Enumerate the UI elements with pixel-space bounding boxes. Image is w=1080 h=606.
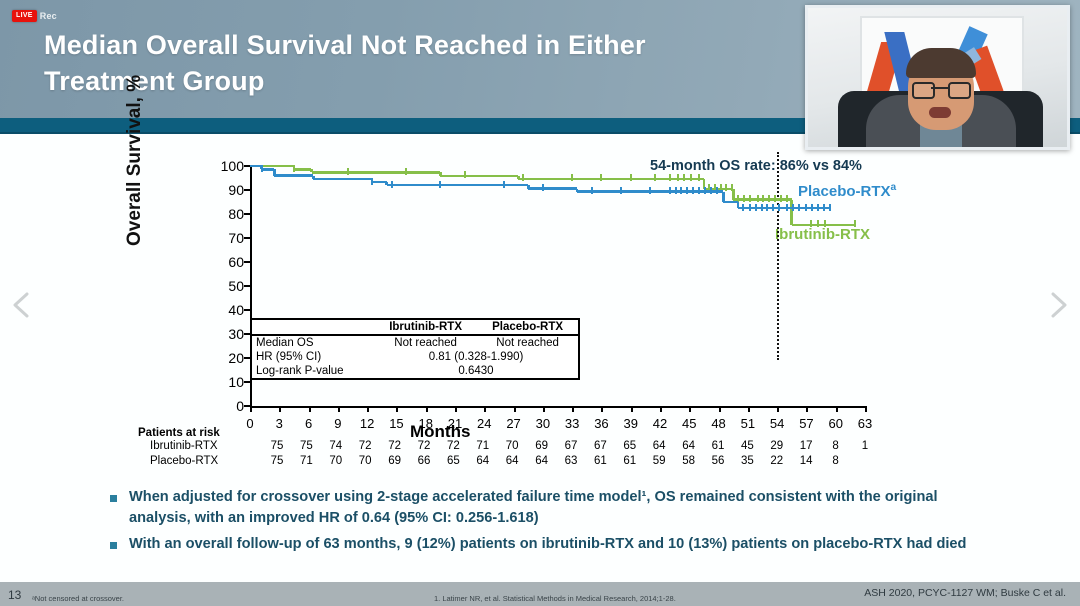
censor-mark <box>261 165 263 172</box>
y-tick-label: 60 <box>228 254 244 270</box>
bullet-text: When adjusted for crossover using 2-stag… <box>129 487 990 528</box>
censor-mark <box>817 204 819 211</box>
risk-value: 75 <box>300 440 313 452</box>
risk-value: 64 <box>653 440 666 452</box>
x-tick-mark <box>426 406 428 412</box>
x-tick-mark <box>631 406 633 412</box>
risk-value: 61 <box>712 440 725 452</box>
risk-table-row: Placebo-RTX75717070696665646464636161595… <box>138 455 890 470</box>
censor-mark <box>792 204 794 211</box>
y-tick-mark <box>244 285 250 287</box>
censor-mark <box>347 168 349 175</box>
stats-row: HR (95% CI)0.81 (0.328-1.990) <box>252 350 578 364</box>
y-tick-label: 80 <box>228 206 244 222</box>
y-tick-label: 70 <box>228 230 244 246</box>
x-tick-mark <box>455 406 457 412</box>
y-tick-mark <box>244 309 250 311</box>
x-tick-mark <box>865 406 867 412</box>
risk-value: 72 <box>388 440 401 452</box>
slide-container: Median Overall Survival Not Reached in E… <box>0 0 1080 606</box>
censor-mark <box>439 181 441 188</box>
y-tick-mark <box>244 189 250 191</box>
page-title: Median Overall Survival Not Reached in E… <box>44 28 744 99</box>
y-tick-label: 90 <box>228 182 244 198</box>
censor-mark <box>762 195 764 202</box>
censor-mark <box>704 187 706 194</box>
censor-mark <box>757 195 759 202</box>
censor-mark <box>649 187 651 194</box>
risk-value: 69 <box>388 455 401 467</box>
y-axis-label: Overall Survival, % <box>124 75 146 246</box>
x-tick-mark <box>309 406 311 412</box>
y-tick-label: 20 <box>228 350 244 366</box>
risk-value: 74 <box>329 440 342 452</box>
live-badge: LIVE <box>12 10 37 22</box>
x-tick-mark <box>806 406 808 412</box>
patients-at-risk-table: Patients at risk Ibrutinib-RTX7575747272… <box>138 427 890 470</box>
placebo-footnote-marker: a <box>891 182 897 193</box>
censor-mark <box>522 174 524 181</box>
risk-value: 69 <box>535 440 548 452</box>
stats-row-value: 0.81 (0.328-1.990) <box>374 350 578 364</box>
risk-value: 29 <box>770 440 783 452</box>
risk-value: 72 <box>359 440 372 452</box>
censor-mark <box>675 187 677 194</box>
risk-value: 71 <box>476 440 489 452</box>
bullet-item: With an overall follow-up of 63 months, … <box>110 534 990 555</box>
y-tick-label: 40 <box>228 302 244 318</box>
presenter-webcam[interactable] <box>805 5 1070 150</box>
stats-row-value: 0.6430 <box>374 364 578 378</box>
risk-value: 67 <box>594 440 607 452</box>
censor-mark <box>749 195 751 202</box>
risk-value: 65 <box>447 455 460 467</box>
risk-value: 70 <box>359 455 372 467</box>
risk-value: 72 <box>447 440 460 452</box>
prev-slide-button[interactable] <box>4 285 38 325</box>
censor-mark <box>742 204 744 211</box>
x-tick-mark <box>572 406 574 412</box>
curve-segment-placebo-rtx <box>528 187 577 190</box>
glasses-bridge <box>931 87 948 89</box>
risk-row-label: Placebo-RTX <box>150 455 218 467</box>
censor-mark <box>829 204 831 211</box>
censor-mark <box>805 204 807 211</box>
censor-mark <box>293 165 295 172</box>
y-tick-label: 10 <box>228 374 244 390</box>
bullet-marker-icon <box>110 542 117 549</box>
risk-value: 67 <box>565 440 578 452</box>
x-tick-mark <box>836 406 838 412</box>
risk-value: 56 <box>712 455 725 467</box>
censor-mark <box>654 174 656 181</box>
x-tick-mark <box>777 406 779 412</box>
chevron-right-icon <box>1042 285 1076 325</box>
censor-mark <box>571 174 573 181</box>
risk-value: 75 <box>271 440 284 452</box>
censor-mark <box>669 187 671 194</box>
stats-col-placebo: Placebo-RTX <box>477 320 578 335</box>
censor-mark <box>731 184 733 191</box>
risk-value: 1 <box>862 440 868 452</box>
censor-mark <box>780 195 782 202</box>
risk-value: 71 <box>300 455 313 467</box>
censor-mark <box>620 187 622 194</box>
risk-value: 61 <box>594 455 607 467</box>
censor-mark <box>692 187 694 194</box>
censor-mark <box>772 204 774 211</box>
risk-value: 22 <box>770 455 783 467</box>
risk-value: 17 <box>800 440 813 452</box>
risk-value: 75 <box>271 455 284 467</box>
x-axis <box>250 406 867 408</box>
y-tick-label: 30 <box>228 326 244 342</box>
x-tick-mark <box>689 406 691 412</box>
stats-col-ibrutinib: Ibrutinib-RTX <box>374 320 477 335</box>
stats-row-value: Not reached <box>477 335 578 350</box>
risk-value: 64 <box>535 455 548 467</box>
stats-row-label: Median OS <box>252 335 374 350</box>
censor-mark <box>600 174 602 181</box>
glasses-icon <box>912 82 935 99</box>
citation-text: 1. Latimer NR, et al. Statistical Method… <box>434 594 676 603</box>
censor-mark <box>391 181 393 188</box>
censor-mark <box>749 204 751 211</box>
censor-mark <box>824 220 826 227</box>
webcam-background <box>808 8 1067 147</box>
x-tick-mark <box>367 406 369 412</box>
curve-segment-ibrutinib-rtx <box>440 175 518 178</box>
x-tick-mark <box>719 406 721 412</box>
risk-value: 58 <box>682 455 695 467</box>
survival-chart: Overall Survival, % 54-month OS rate: 86… <box>130 150 890 480</box>
stats-row-value: Not reached <box>374 335 477 350</box>
y-tick-label: 100 <box>221 158 244 174</box>
censor-mark <box>817 220 819 227</box>
risk-value: 64 <box>682 440 695 452</box>
y-tick-mark <box>244 213 250 215</box>
censor-mark <box>690 174 692 181</box>
bullet-list: When adjusted for crossover using 2-stag… <box>110 487 990 561</box>
presenter-hair <box>906 48 976 78</box>
censor-mark <box>630 174 632 181</box>
censor-mark <box>716 187 718 194</box>
risk-value: 64 <box>476 455 489 467</box>
censor-mark <box>680 187 682 194</box>
censor-mark <box>677 174 679 181</box>
y-tick-mark <box>244 381 250 383</box>
source-text: ASH 2020, PCYC-1127 WM; Buske C et al. <box>864 587 1066 599</box>
censor-mark <box>811 204 813 211</box>
x-tick-mark <box>279 406 281 412</box>
y-tick-label: 50 <box>228 278 244 294</box>
stats-col-blank <box>252 320 374 335</box>
risk-table-title: Patients at risk <box>138 427 890 439</box>
rec-label: Rec <box>40 11 57 21</box>
y-tick-label: 0 <box>236 398 244 414</box>
censor-mark <box>710 187 712 194</box>
risk-value: 64 <box>506 455 519 467</box>
censor-mark <box>761 204 763 211</box>
censor-mark <box>774 195 776 202</box>
next-slide-button[interactable] <box>1042 285 1076 325</box>
censor-mark <box>778 204 780 211</box>
censor-mark <box>810 220 812 227</box>
curve-segment-placebo-rtx <box>274 174 313 177</box>
censor-mark <box>725 184 727 191</box>
reference-line-54-months <box>777 152 779 360</box>
y-tick-mark <box>244 261 250 263</box>
stats-row: Median OSNot reachedNot reached <box>252 335 578 350</box>
stats-row: Log-rank P-value0.6430 <box>252 364 578 378</box>
curve-segment-ibrutinib-rtx <box>312 171 441 174</box>
risk-table-row: Ibrutinib-RTX757574727272727170696767656… <box>138 440 890 455</box>
footnote-text: ᵃNot censored at crossover. <box>32 594 124 603</box>
statistics-table: Ibrutinib-RTX Placebo-RTX Median OSNot r… <box>250 318 580 380</box>
risk-value: 72 <box>418 440 431 452</box>
y-tick-mark <box>244 237 250 239</box>
risk-value: 70 <box>506 440 519 452</box>
curve-segment-ibrutinib-rtx <box>294 168 312 171</box>
censor-mark <box>542 184 544 191</box>
censor-mark <box>768 195 770 202</box>
curve-segment-placebo-rtx <box>387 184 529 187</box>
recording-indicator: LIVE Rec <box>12 10 57 22</box>
censor-mark <box>405 168 407 175</box>
risk-value: 8 <box>832 455 838 467</box>
censor-mark <box>755 204 757 211</box>
censor-mark <box>698 187 700 194</box>
stats-row-label: HR (95% CI) <box>252 350 374 364</box>
risk-value: 61 <box>623 455 636 467</box>
censor-mark <box>371 178 373 185</box>
curve-segment-placebo-rtx <box>313 178 372 181</box>
censor-mark <box>766 204 768 211</box>
censor-mark <box>503 181 505 188</box>
risk-row-label: Ibrutinib-RTX <box>150 440 218 452</box>
censor-mark <box>786 195 788 202</box>
x-tick-mark <box>514 406 516 412</box>
x-tick-mark <box>396 406 398 412</box>
censor-mark <box>683 174 685 181</box>
x-tick-mark <box>660 406 662 412</box>
censor-mark <box>591 187 593 194</box>
censor-mark <box>686 187 688 194</box>
x-tick-mark <box>338 406 340 412</box>
x-tick-mark <box>748 406 750 412</box>
censor-mark <box>464 171 466 178</box>
risk-value: 45 <box>741 440 754 452</box>
censor-mark <box>669 174 671 181</box>
x-tick-mark <box>601 406 603 412</box>
x-tick-mark <box>484 406 486 412</box>
presenter-mouth <box>929 107 951 118</box>
risk-value: 14 <box>800 455 813 467</box>
risk-value: 8 <box>832 440 838 452</box>
risk-value: 59 <box>653 455 666 467</box>
glasses-icon <box>948 82 971 99</box>
risk-value: 63 <box>565 455 578 467</box>
bullet-item: When adjusted for crossover using 2-stag… <box>110 487 990 528</box>
x-tick-mark <box>543 406 545 412</box>
risk-value: 66 <box>418 455 431 467</box>
chevron-left-icon <box>4 285 38 325</box>
censor-mark <box>854 220 856 227</box>
risk-value: 65 <box>623 440 636 452</box>
risk-value: 35 <box>741 455 754 467</box>
x-tick-mark <box>250 406 252 412</box>
censor-mark <box>698 174 700 181</box>
censor-mark <box>823 204 825 211</box>
page-number: 13 <box>8 588 21 602</box>
censor-mark <box>743 195 745 202</box>
bullet-text: With an overall follow-up of 63 months, … <box>129 534 966 555</box>
risk-value: 70 <box>329 455 342 467</box>
bullet-marker-icon <box>110 495 117 502</box>
stats-row-label: Log-rank P-value <box>252 364 374 378</box>
slide-footer: 13 ᵃNot censored at crossover. 1. Latime… <box>0 582 1080 606</box>
censor-mark <box>798 204 800 211</box>
censor-mark <box>786 204 788 211</box>
